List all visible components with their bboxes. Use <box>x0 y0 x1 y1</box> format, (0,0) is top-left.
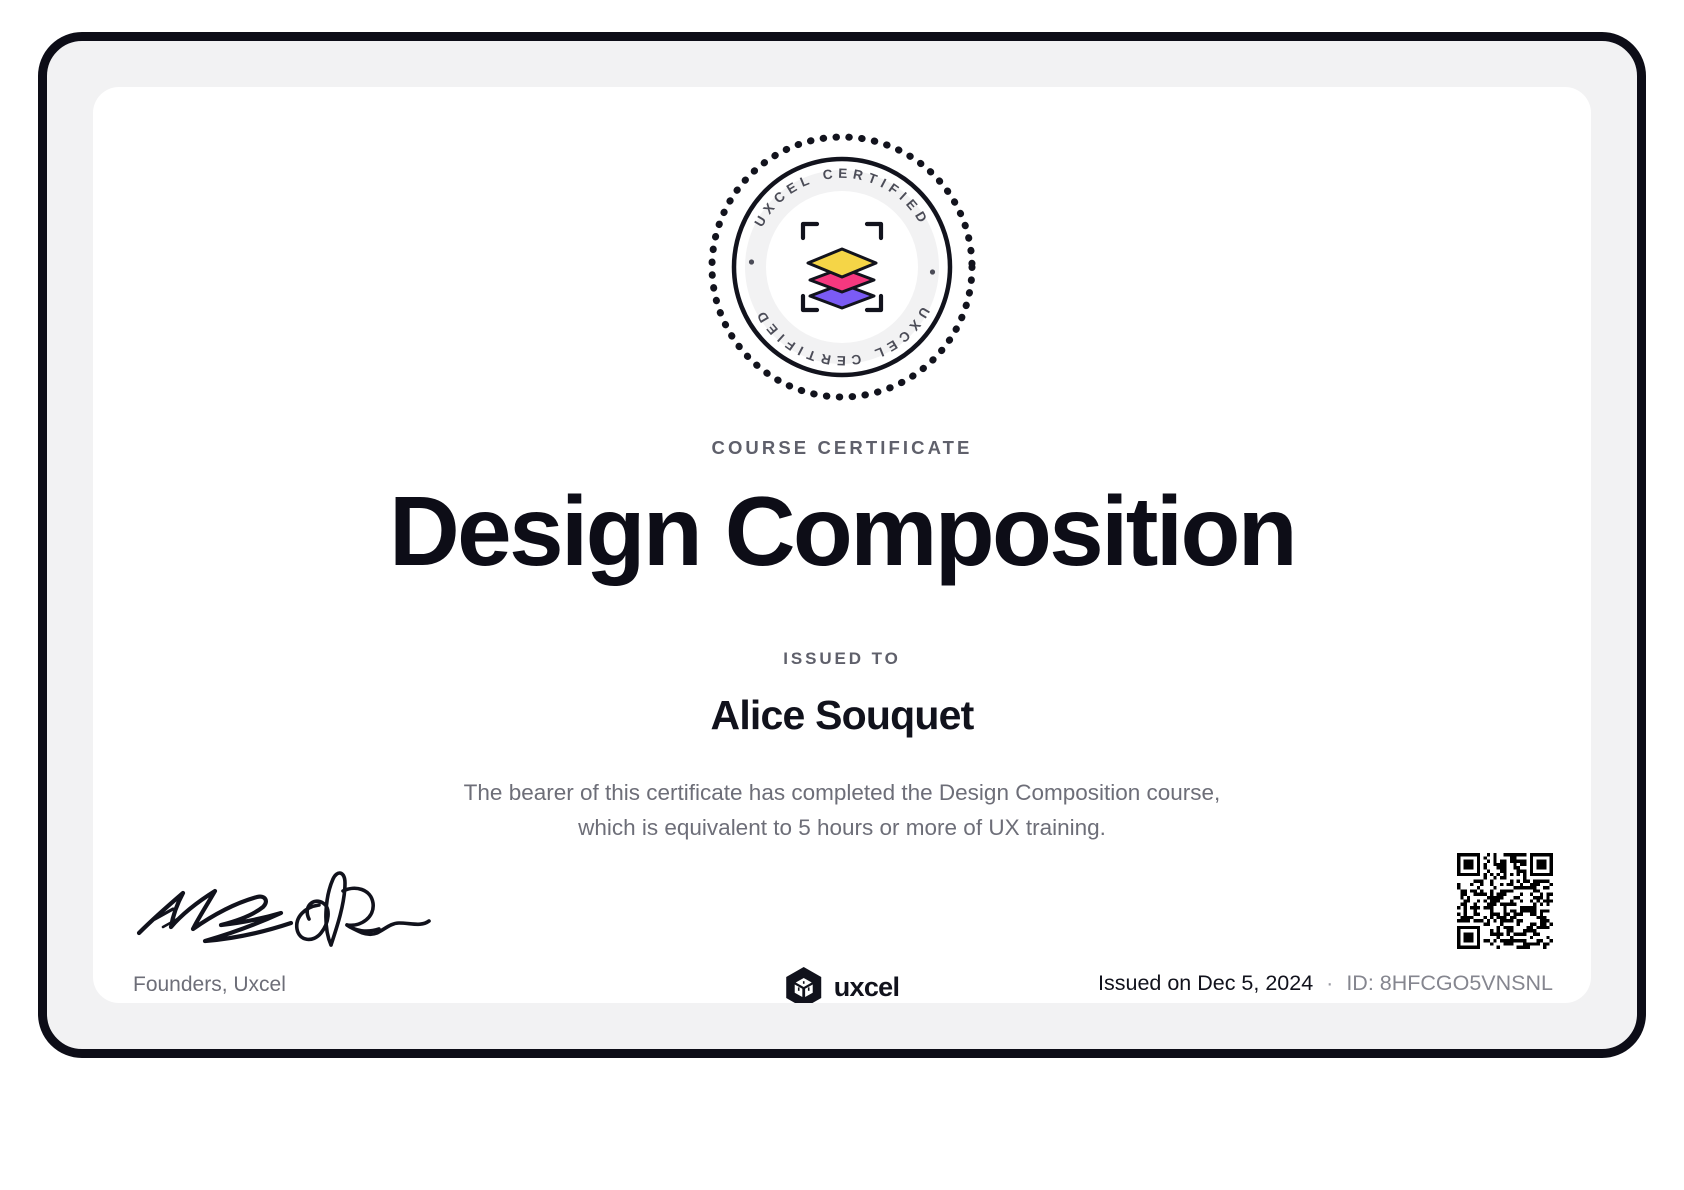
certification-seal: UXCEL CERTIFIED UXCEL CERTIFIED <box>704 129 980 405</box>
uxcel-wordmark: uxcel <box>834 972 900 1003</box>
issued-to-label: ISSUED TO <box>93 649 1591 669</box>
uxcel-hexagon-cube-icon <box>785 967 823 1003</box>
description-line-1: The bearer of this certificate has compl… <box>93 775 1591 810</box>
signature-icon <box>133 857 433 949</box>
qr-code-icon <box>1457 853 1553 949</box>
founder-signatures <box>133 857 463 967</box>
issue-date: Issued on Dec 5, 2024 <box>1098 971 1313 995</box>
certificate-type-label: COURSE CERTIFICATE <box>93 437 1591 459</box>
meta-separator: · <box>1326 971 1333 995</box>
uxcel-logo: uxcel <box>785 967 900 1003</box>
certificate-frame: UXCEL CERTIFIED UXCEL CERTIFIED <box>38 32 1646 1058</box>
certificate-card: UXCEL CERTIFIED UXCEL CERTIFIED <box>93 87 1591 1003</box>
certificate-id: ID: 8HFCGO5VNSNL <box>1346 971 1553 995</box>
recipient-name: Alice Souquet <box>93 692 1591 739</box>
seal-graphic: UXCEL CERTIFIED UXCEL CERTIFIED <box>704 129 980 405</box>
issue-metadata: Issued on Dec 5, 2024 · ID: 8HFCGO5VNSNL <box>1098 971 1553 996</box>
course-title: Design Composition <box>93 479 1591 585</box>
verification-qr-code[interactable] <box>1457 853 1553 949</box>
certificate-description: The bearer of this certificate has compl… <box>93 775 1591 845</box>
description-line-2: which is equivalent to 5 hours or more o… <box>93 810 1591 845</box>
signature-caption: Founders, Uxcel <box>133 973 286 997</box>
